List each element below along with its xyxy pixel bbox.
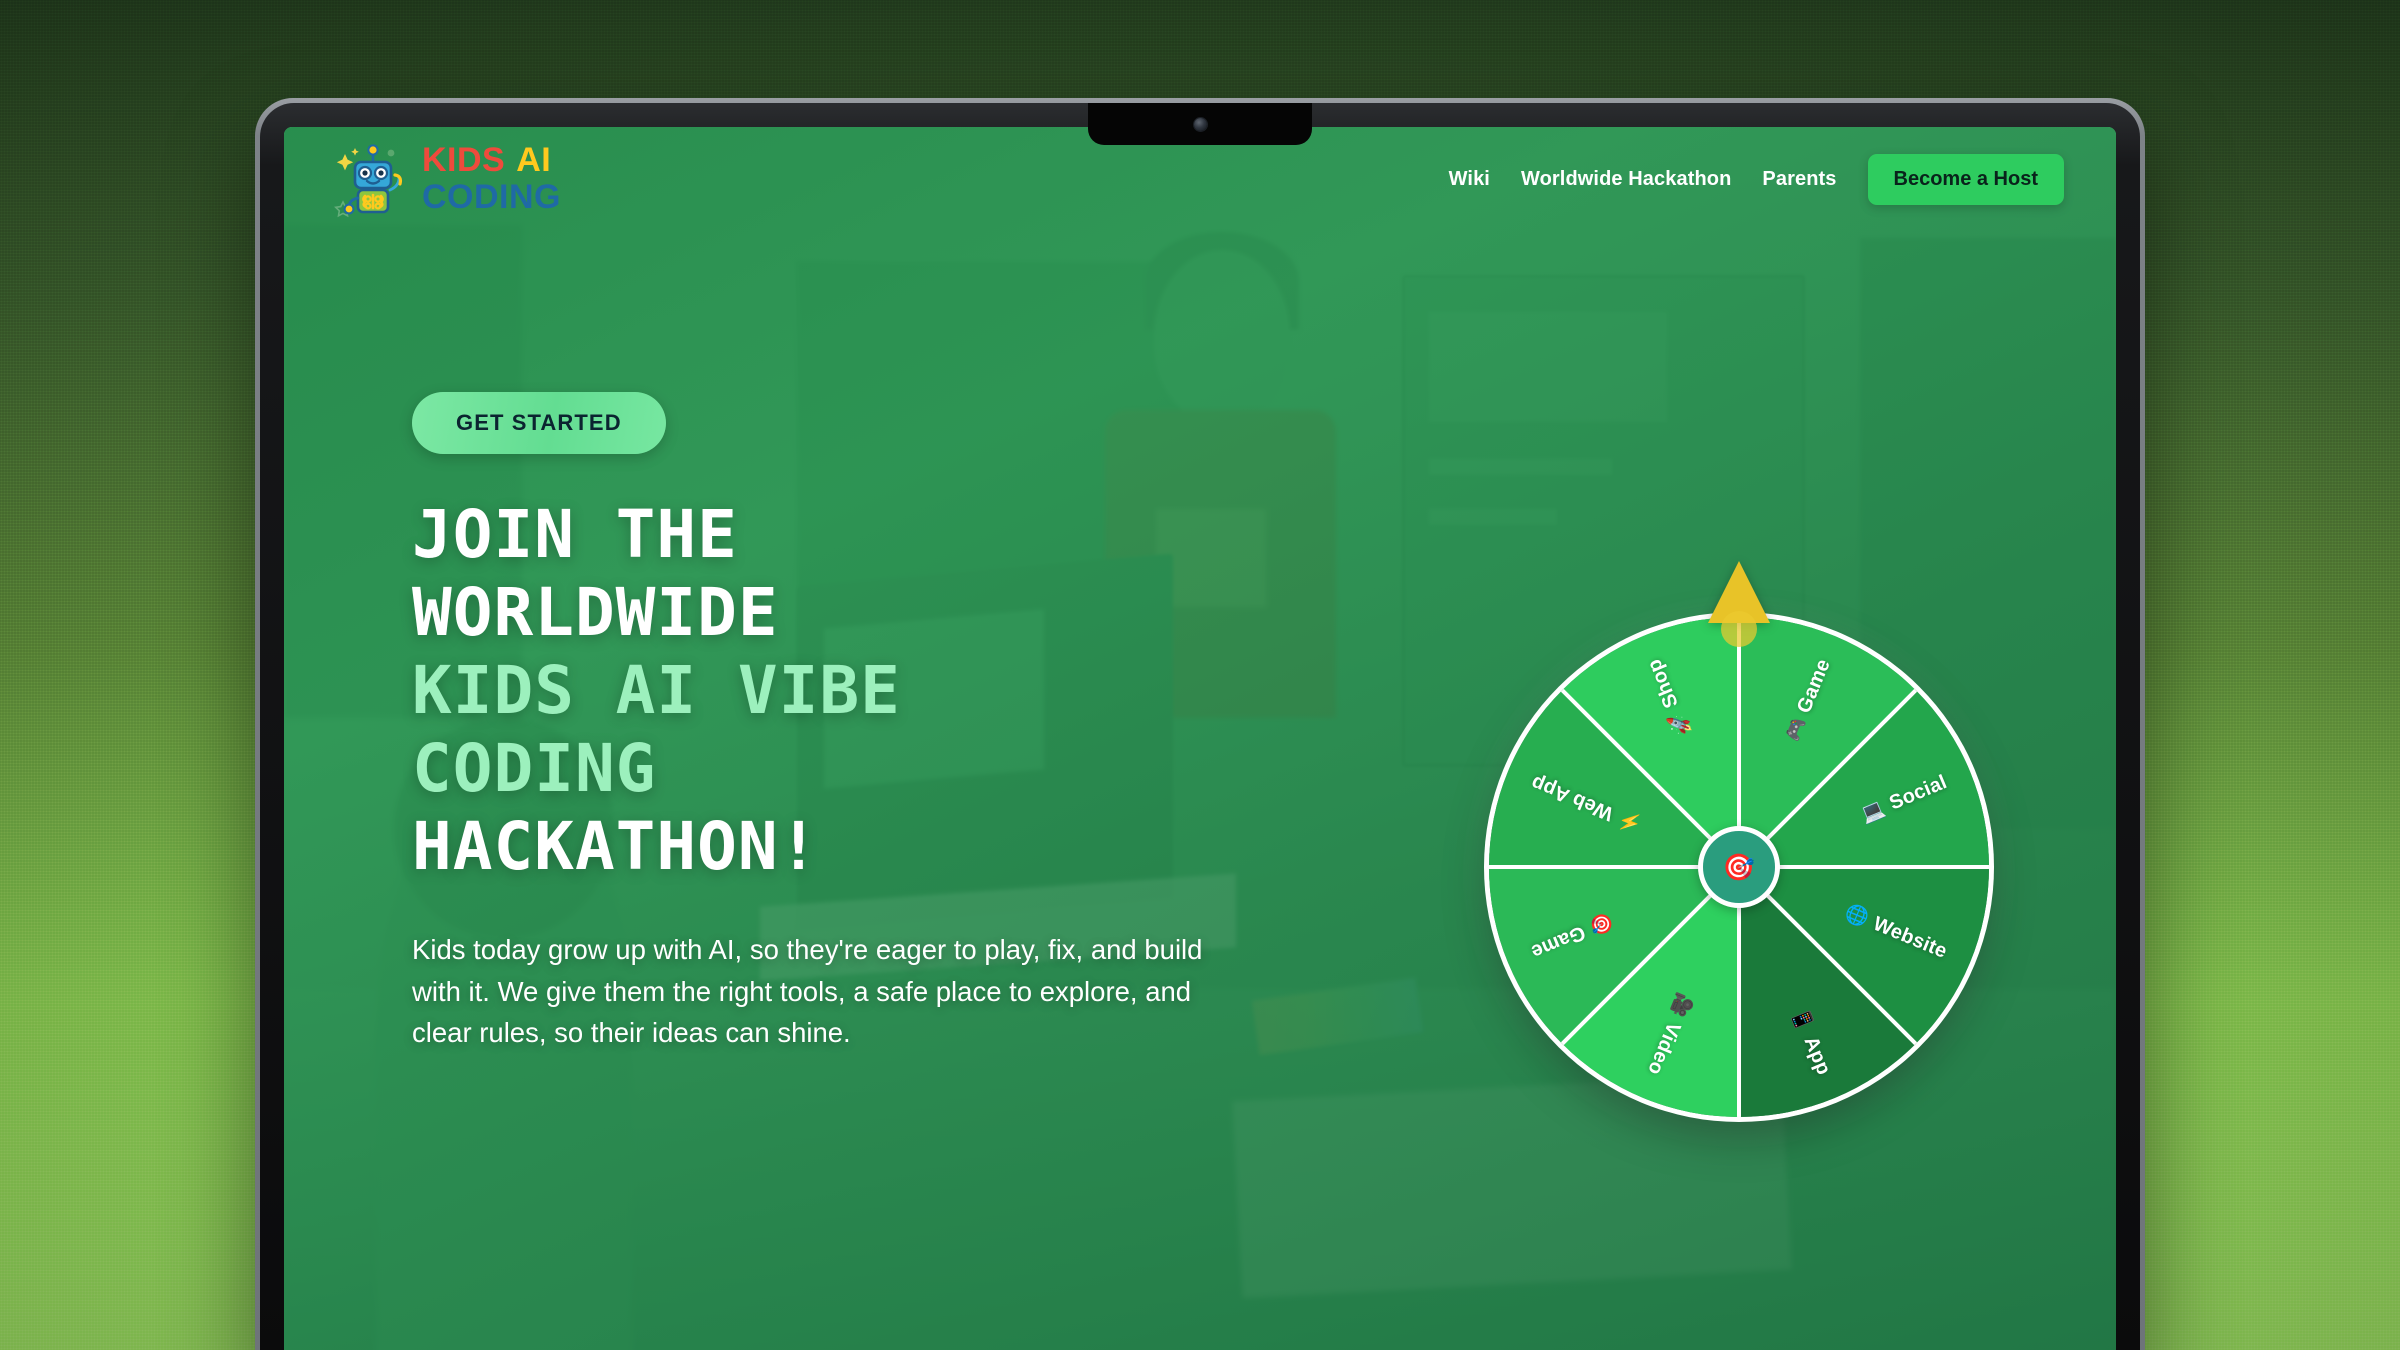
headline-line-3: KIDS AI VIBE	[412, 652, 1232, 730]
nav-link-parents[interactable]: Parents	[1762, 168, 1836, 191]
headline-line-4: CODING	[412, 730, 1232, 808]
nav-link-wiki[interactable]: Wiki	[1449, 168, 1490, 191]
logo-wordmark: KIDS AI CODING	[422, 144, 561, 214]
headline-line-2: WORLDWIDE	[412, 574, 1232, 652]
hero-section: GET STARTED JOIN THE WORLDWIDE KIDS AI V…	[412, 392, 1232, 1053]
laptop-bezel: KIDS AI CODING Wiki Worldwide Hackathon …	[260, 103, 2140, 1350]
laptop-notch	[1088, 103, 1312, 145]
main-navigation: Wiki Worldwide Hackathon Parents Become …	[1449, 154, 2064, 205]
robot-mascot-icon	[334, 140, 412, 218]
logo-word-ai: AI	[516, 144, 551, 177]
nav-link-worldwide-hackathon[interactable]: Worldwide Hackathon	[1521, 168, 1731, 191]
become-a-host-button[interactable]: Become a Host	[1868, 154, 2065, 205]
page-title: JOIN THE WORLDWIDE KIDS AI VIBE CODING H…	[412, 496, 1232, 885]
wheel-pointer-icon	[1708, 561, 1770, 647]
wheel-hub-target-icon[interactable]: 🎯	[1698, 826, 1780, 908]
site-logo[interactable]: KIDS AI CODING	[330, 140, 561, 218]
website-content: KIDS AI CODING Wiki Worldwide Hackathon …	[284, 127, 2116, 1350]
webcam-icon	[1194, 118, 1207, 131]
laptop-screen: KIDS AI CODING Wiki Worldwide Hackathon …	[284, 127, 2116, 1350]
headline-line-1: JOIN THE	[412, 496, 1232, 574]
logo-word-coding: CODING	[422, 181, 561, 214]
logo-word-kids: KIDS	[422, 144, 505, 177]
get-started-button[interactable]: GET STARTED	[412, 392, 666, 454]
spin-wheel[interactable]: 🎮Game💻Social🌐Website📱App🎥Video🎯Game⚡Web …	[1489, 617, 1989, 1117]
laptop-mockup: KIDS AI CODING Wiki Worldwide Hackathon …	[255, 98, 2145, 1350]
hero-description: Kids today grow up with AI, so they're e…	[412, 929, 1212, 1053]
headline-line-5: HACKATHON!	[412, 808, 1232, 886]
